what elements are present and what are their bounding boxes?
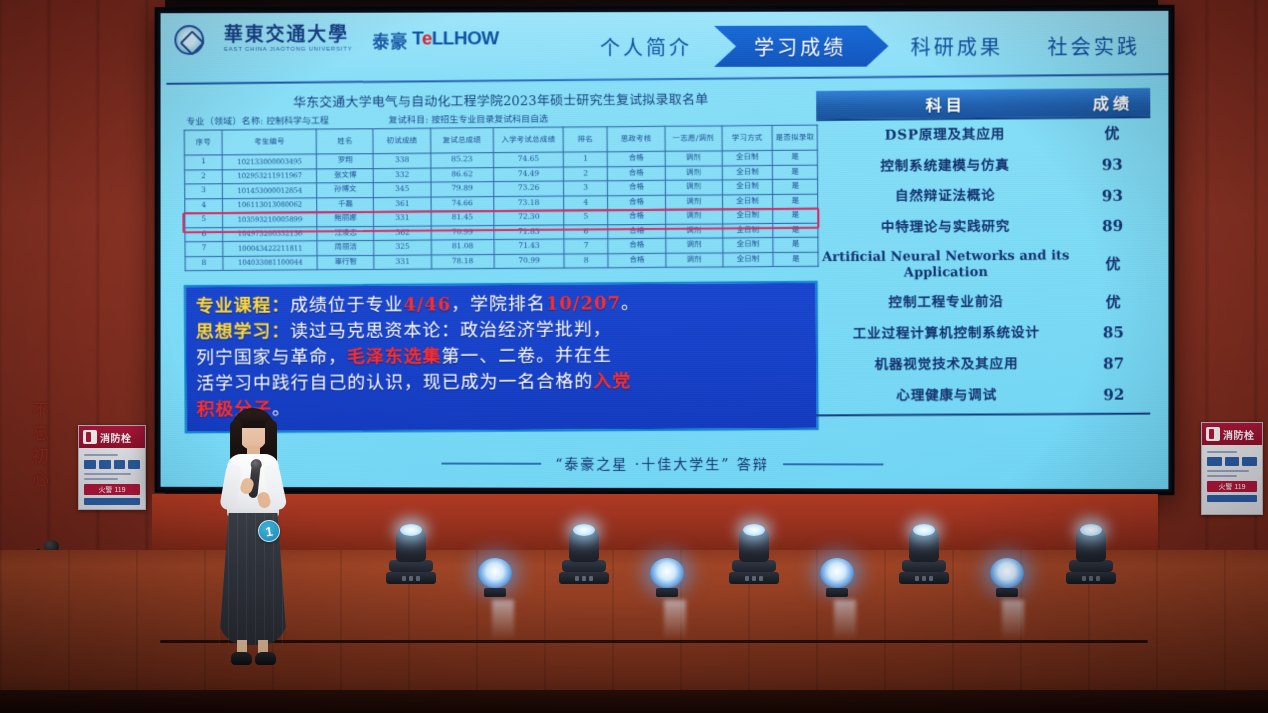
table-cell: 3 <box>185 184 223 199</box>
table-cell: 79.89 <box>431 182 494 197</box>
admission-list-section: 华东交通大学电气与自动化工程学院2023年硕士研究生复试拟录取名单 专业（领域）… <box>184 90 818 433</box>
grade-subject: 中特理论与实践研究 <box>816 211 1076 244</box>
table-cell: 调剂 <box>665 252 722 267</box>
auditorium-scene: 不忘初心 消防栓 火警 119 消防栓 <box>0 0 1268 713</box>
light-reflection <box>492 600 514 640</box>
table-cell: 3 <box>563 181 607 196</box>
table-cell: 调剂 <box>665 165 722 180</box>
grade-subject: 机器视觉技术及其应用 <box>817 349 1077 381</box>
sign-text-line <box>84 454 118 456</box>
statement-book-title: 毛泽东选集 <box>347 346 442 368</box>
caption-text: “泰豪之星 ·十佳大学生” 答辩 <box>555 454 769 474</box>
grade-subject: 工业过程计算机控制系统设计 <box>817 318 1077 350</box>
table-cell: 江凌志 <box>317 226 374 241</box>
sign-footer-bar <box>1207 495 1257 502</box>
lamp-base <box>899 572 949 584</box>
statement-text-4a: 活学习中践行自己的认识，现已成为一名合格的 <box>196 371 593 394</box>
par-light <box>650 558 684 597</box>
table-cell: 是 <box>773 165 818 180</box>
grades-bottom-rule <box>816 412 1150 416</box>
grade-subject: 自然辩证法概论 <box>816 181 1076 214</box>
table-cell: 345 <box>374 182 431 197</box>
statement-rank-major: 4/46 <box>403 294 451 315</box>
table-cell: 全日制 <box>723 252 774 267</box>
grade-subject: Artificial Neural Networks and its Appli… <box>816 242 1076 288</box>
nav-tab-research[interactable]: 科研成果 <box>888 25 1025 66</box>
hydrant-sign-header: 消防栓 <box>79 426 145 448</box>
lamp-base-detail <box>1089 576 1093 581</box>
statement-text-1b: ，学院排名 <box>451 294 546 316</box>
table-cell: 362 <box>374 226 431 241</box>
lamp-base-detail <box>402 576 406 581</box>
sign-step-chip <box>84 460 96 469</box>
hydrant-sign-title: 消防栓 <box>1223 427 1255 442</box>
table-cell: 5 <box>564 210 608 225</box>
admission-col-1: 考生编号 <box>222 129 317 155</box>
table-cell: 74.49 <box>494 167 564 182</box>
grade-subject: 控制系统建模与仿真 <box>815 150 1075 183</box>
sign-step-chip <box>128 460 140 469</box>
admission-subject-label: 复试科目: <box>388 116 428 126</box>
table-cell: 7 <box>185 241 223 256</box>
grade-row: 控制系统建模与仿真93 <box>815 149 1149 182</box>
sign-step-chip <box>1242 457 1257 466</box>
lamp-head <box>909 528 939 562</box>
table-cell: 是 <box>773 223 818 238</box>
table-cell: 合格 <box>608 253 665 268</box>
grade-subject: 心理健康与调试 <box>817 380 1077 412</box>
admission-col-2: 姓名 <box>317 129 374 154</box>
lamp-base <box>729 572 779 584</box>
lamp-base-detail <box>1082 576 1086 581</box>
table-cell: 78.18 <box>431 254 494 269</box>
par-light-base <box>826 588 848 597</box>
grade-score: 92 <box>1076 379 1151 410</box>
lamp-beam <box>1080 524 1102 536</box>
par-light-face <box>650 558 684 588</box>
sponsor-name-cn: 泰豪 <box>372 27 408 52</box>
sign-text-line <box>1207 451 1237 453</box>
table-cell: 104973200332136 <box>223 226 318 241</box>
table-cell: 全日制 <box>722 165 773 180</box>
table-cell: 调剂 <box>665 194 722 209</box>
university-logo-icon <box>174 25 204 55</box>
lamp-base <box>1066 572 1116 584</box>
lamp-base-detail <box>915 576 919 581</box>
slide-body: 华东交通大学电气与自动化工程学院2023年硕士研究生复试拟录取名单 专业（领域）… <box>161 83 1169 489</box>
par-light-face <box>990 558 1024 588</box>
admission-major-value: 控制科学与工程 <box>266 116 329 126</box>
nav-tab-profile[interactable]: 个人简介 <box>578 26 714 67</box>
table-cell: 合格 <box>608 166 665 181</box>
table-cell: 100043422211811 <box>223 241 318 256</box>
table-cell: 86.62 <box>430 167 493 182</box>
table-cell: 106113013080062 <box>223 197 318 212</box>
wall-calligraphy: 不忘初心 <box>26 400 56 492</box>
table-cell: 是 <box>773 150 818 165</box>
table-cell: 是 <box>773 179 818 194</box>
sign-step-chip <box>1207 457 1222 466</box>
presenter-shoe-left <box>231 652 252 665</box>
statement-line-3: 列宁国家与革命，毛泽东选集第一、二卷。并在生 <box>196 342 806 372</box>
sign-step-chips <box>84 460 140 469</box>
grades-header-subject-cell: 科目 <box>816 91 1076 117</box>
caption-rule-right <box>783 463 883 465</box>
sign-step-chip <box>99 460 111 469</box>
table-cell: 全日制 <box>722 223 773 238</box>
table-cell: 调剂 <box>665 223 722 238</box>
grade-score: 93 <box>1075 149 1150 180</box>
lamp-head <box>739 528 769 562</box>
sign-step-chip <box>1225 457 1240 466</box>
admission-table-wrapper: 序号考生编号姓名初试成绩复试总成绩入学考试总成绩排名思政考核一志愿/调剂学习方式… <box>184 125 819 272</box>
table-cell: 调剂 <box>665 238 722 253</box>
par-light-base <box>656 588 678 597</box>
table-cell: 103593210005899 <box>223 212 318 227</box>
hydrant-hotline: 火警 119 <box>1207 481 1257 492</box>
nav-tab-practice[interactable]: 社会实践 <box>1025 25 1162 66</box>
admission-col-8: 一志愿/调剂 <box>665 126 722 151</box>
grades-section: 科目 成绩 DSP原理及其应用优控制系统建模与仿真93自然辩证法概论93中特理论… <box>816 89 1150 415</box>
lamp-base-detail <box>929 576 933 581</box>
table-cell: 全日制 <box>722 180 773 195</box>
par-light <box>990 558 1024 597</box>
grades-header-subject: 科目 <box>926 96 966 115</box>
slide-header: 華東交通大學 EAST CHINA JIAOTONG UNIVERSITY 泰豪… <box>161 11 1169 85</box>
lamp-base-detail <box>582 576 586 581</box>
table-cell: 是 <box>773 237 818 252</box>
stage-front-edge <box>0 690 1268 713</box>
table-cell: 70.99 <box>431 225 494 240</box>
table-cell: 2 <box>185 169 223 184</box>
moving-head-light <box>898 528 950 584</box>
admission-table: 序号考生编号姓名初试成绩复试总成绩入学考试总成绩排名思政考核一志愿/调剂学习方式… <box>184 125 819 272</box>
table-cell: 332 <box>374 168 431 183</box>
statement-text-2a: 读过马克思资本论：政治经济学批判， <box>290 319 612 342</box>
stage-cable <box>160 640 1148 643</box>
table-cell: 调剂 <box>665 151 722 166</box>
hydrant-icon <box>83 430 97 444</box>
admission-subject: 复试科目: 按招生专业目录复试科目自选 <box>388 112 548 126</box>
table-cell: 周丽洁 <box>317 240 374 255</box>
par-light <box>820 558 854 597</box>
table-cell: 331 <box>374 211 431 226</box>
table-cell: 81.45 <box>431 211 494 226</box>
table-cell: 7 <box>564 239 608 254</box>
table-cell: 73.18 <box>494 196 564 211</box>
sponsor-letter-t: T <box>412 29 422 50</box>
lamp-base-detail <box>575 576 579 581</box>
par-light <box>478 558 512 597</box>
table-cell: 70.99 <box>494 254 564 269</box>
fire-hydrant-sign-right: 消防栓 火警 119 <box>1201 422 1263 515</box>
sign-text-line <box>1207 475 1237 477</box>
moving-head-light <box>728 528 780 584</box>
lamp-head <box>569 528 599 562</box>
table-cell: 8 <box>185 256 223 271</box>
grades-header-score: 成绩 <box>1093 94 1133 113</box>
table-cell: 合格 <box>608 209 665 224</box>
lamp-base-detail <box>922 576 926 581</box>
table-cell: 合格 <box>608 238 665 253</box>
statement-rank-college: 10/207 <box>546 293 621 314</box>
table-cell: 调剂 <box>665 180 722 195</box>
table-cell: 全日制 <box>722 194 773 209</box>
grade-row: 机器视觉技术及其应用87 <box>817 348 1151 381</box>
table-cell: 全日制 <box>722 209 773 224</box>
sign-text-line <box>1207 470 1249 472</box>
fire-hydrant-sign-left: 消防栓 火警 119 <box>78 425 146 510</box>
table-cell: 338 <box>374 153 431 168</box>
sponsor-letters-rest: LLHOW <box>432 28 499 49</box>
statement-text-3b: 第一、二卷。并在生 <box>441 345 612 367</box>
led-screen: 華東交通大學 EAST CHINA JIAOTONG UNIVERSITY 泰豪… <box>155 5 1175 495</box>
table-cell: 72.30 <box>494 210 564 225</box>
table-cell: 73.26 <box>494 181 564 196</box>
university-name-cn: 華東交通大學 <box>224 26 353 46</box>
lamp-base-detail <box>745 576 749 581</box>
presenter: 1 <box>210 408 296 670</box>
table-cell: 101453000012854 <box>222 183 317 198</box>
lamp-beam <box>400 524 422 536</box>
statement-text-1a: 成绩位于专业 <box>290 295 403 317</box>
hydrant-sign-body: 火警 119 <box>1202 445 1262 505</box>
sign-step-chip <box>114 460 126 469</box>
admission-major: 专业（领域）名称: 控制科学与工程 <box>186 114 329 128</box>
admission-major-label: 专业（领域）名称: <box>186 117 263 128</box>
university-name-block: 華東交通大學 EAST CHINA JIAOTONG UNIVERSITY <box>224 26 353 53</box>
statement-text-3a: 列宁国家与革命， <box>196 347 347 369</box>
admission-col-10: 是否拟录取 <box>773 125 818 150</box>
presenter-shoe-right <box>255 652 276 665</box>
table-cell: 合格 <box>608 151 665 166</box>
light-reflection <box>834 600 856 640</box>
table-cell: 张文博 <box>317 168 374 183</box>
table-cell: 孙博文 <box>317 183 374 198</box>
table-cell: 71.43 <box>494 239 564 254</box>
table-cell: 74.66 <box>431 196 494 211</box>
statement-text-1c: 。 <box>621 293 640 314</box>
table-cell: 1 <box>184 155 222 170</box>
grade-row: DSP原理及其应用优 <box>815 118 1149 152</box>
table-cell: 1 <box>563 152 607 167</box>
university-name-en: EAST CHINA JIAOTONG UNIVERSITY <box>224 47 353 54</box>
lamp-base-detail <box>1096 576 1100 581</box>
par-light-face <box>820 558 854 588</box>
moving-head-light <box>385 528 437 584</box>
lamp-head <box>1076 528 1106 562</box>
stage-back-wall <box>152 494 1158 550</box>
logo-group: 華東交通大學 EAST CHINA JIAOTONG UNIVERSITY 泰豪… <box>174 24 498 55</box>
table-cell: 6 <box>564 224 608 239</box>
admission-title: 华东交通大学电气与自动化工程学院2023年硕士研究生复试拟录取名单 <box>184 88 818 112</box>
moving-head-light <box>558 528 610 584</box>
hydrant-hotline: 火警 119 <box>84 484 140 495</box>
table-cell: 2 <box>563 166 607 181</box>
statement-line-2: 思想学习：读过马克思资本论：政治经济学批判， <box>196 316 806 346</box>
table-cell: 81.08 <box>431 240 494 255</box>
sponsor-logo: 泰豪 TeLLHOW <box>372 27 498 52</box>
grade-row: 自然辩证法概论93 <box>816 180 1150 213</box>
grade-row: 中特理论与实践研究89 <box>816 211 1150 244</box>
hydrant-sign-body: 火警 119 <box>79 448 145 508</box>
hydrant-sign-header: 消防栓 <box>1202 423 1262 445</box>
grade-row: 心理健康与调试92 <box>817 379 1151 412</box>
table-cell: 全日制 <box>723 238 774 253</box>
sign-text-line <box>84 478 118 480</box>
table-cell: 74.65 <box>494 152 564 167</box>
table-cell: 是 <box>773 252 818 267</box>
admission-col-6: 排名 <box>563 127 608 152</box>
grade-subject: DSP原理及其应用 <box>815 119 1075 152</box>
grade-score: 优 <box>1075 118 1150 149</box>
grade-score: 优 <box>1076 287 1151 318</box>
table-cell: 罗翔 <box>317 154 374 169</box>
grade-score: 87 <box>1076 348 1151 379</box>
table-cell: 合格 <box>608 180 665 195</box>
admission-col-7: 思政考核 <box>607 126 664 151</box>
slide-nav: 个人简介 学习成绩 科研成果 社会实践 <box>578 25 1162 67</box>
table-cell: 合格 <box>608 195 665 210</box>
lamp-base-detail <box>759 576 763 581</box>
admission-table-body: 1102133000003495罗翔33885.2374.651合格调剂全日制是… <box>184 150 818 270</box>
table-cell: 是 <box>773 194 818 209</box>
grade-row: 工业过程计算机控制系统设计85 <box>817 317 1151 350</box>
caption-rule-left <box>442 463 542 465</box>
sponsor-name-en: TeLLHOW <box>412 28 499 50</box>
admission-subject-value: 按招生专业目录复试科目自选 <box>432 115 549 126</box>
lamp-base <box>386 572 436 584</box>
presentation-slide: 華東交通大學 EAST CHINA JIAOTONG UNIVERSITY 泰豪… <box>161 11 1169 489</box>
grade-score: 93 <box>1075 180 1150 211</box>
light-reflection <box>664 600 686 640</box>
sponsor-letter-e: e <box>422 29 432 50</box>
sign-footer-bar <box>84 498 140 505</box>
table-cell: 全日制 <box>722 150 773 165</box>
statement-line-4: 活学习中践行自己的认识，现已成为一名合格的入党 <box>196 368 806 397</box>
admission-col-9: 学习方式 <box>722 125 773 150</box>
table-row: 8104033081100044辜行智33178.1870.998合格调剂全日制… <box>185 252 818 271</box>
lamp-base-detail <box>752 576 756 581</box>
par-light-base <box>484 588 506 597</box>
lamp-base-detail <box>416 576 420 581</box>
table-cell: 102133000003495 <box>222 154 317 169</box>
table-cell: 361 <box>374 197 431 212</box>
lamp-base <box>559 572 609 584</box>
grades-header-score-cell: 成绩 <box>1076 90 1151 115</box>
admission-col-3: 初试成绩 <box>373 128 430 153</box>
table-cell: 4 <box>185 198 223 213</box>
lamp-beam <box>913 524 935 536</box>
grade-score: 89 <box>1075 211 1150 242</box>
table-cell: 辜行智 <box>317 255 374 270</box>
sign-step-chips <box>1207 457 1257 466</box>
light-reflection <box>1002 600 1024 640</box>
table-cell: 8 <box>564 253 608 268</box>
par-light-base <box>996 588 1018 597</box>
table-cell: 102953211911967 <box>222 169 317 184</box>
hydrant-sign-title: 消防栓 <box>100 430 132 445</box>
grades-header-row: 科目 成绩 <box>816 88 1150 121</box>
par-light-face <box>478 558 512 588</box>
sign-text-line <box>84 473 131 475</box>
admission-col-5: 入学考试总成绩 <box>493 127 563 153</box>
lamp-beam <box>573 524 595 536</box>
grade-score: 85 <box>1076 317 1151 348</box>
grades-table-body: DSP原理及其应用优控制系统建模与仿真93自然辩证法概论93中特理论与实践研究8… <box>815 118 1151 412</box>
admission-col-4: 复试总成绩 <box>430 128 493 153</box>
lamp-base-detail <box>409 576 413 581</box>
table-cell: 331 <box>374 254 431 269</box>
lamp-base-detail <box>589 576 593 581</box>
table-cell: 325 <box>374 240 431 255</box>
table-cell: 104033081100044 <box>223 255 318 270</box>
hydrant-icon <box>1206 427 1220 441</box>
table-cell: 85.23 <box>430 153 493 168</box>
table-cell: 鲍丽娜 <box>317 211 374 226</box>
statement-label-courses: 专业课程： <box>196 295 290 317</box>
slide-caption: “泰豪之星 ·十佳大学生” 答辩 <box>161 453 1169 475</box>
grade-row: Artificial Neural Networks and its Appli… <box>816 242 1150 289</box>
nav-tab-grades[interactable]: 学习成绩 <box>714 26 888 67</box>
table-cell: 千磊 <box>317 197 374 212</box>
grade-subject: 控制工程专业前沿 <box>816 287 1076 320</box>
grades-table: DSP原理及其应用优控制系统建模与仿真93自然辩证法概论93中特理论与实践研究8… <box>815 118 1151 412</box>
table-cell: 调剂 <box>665 209 722 224</box>
lamp-head <box>396 528 426 562</box>
lamp-beam <box>743 524 765 536</box>
table-cell: 5 <box>185 213 223 228</box>
statement-label-ideology: 思想学习： <box>196 321 290 342</box>
table-cell: 6 <box>185 227 223 242</box>
statement-line-1: 专业课程：成绩位于专业4/46，学院排名10/207。 <box>196 290 806 320</box>
statement-party-1: 入党 <box>593 371 631 392</box>
table-cell: 71.83 <box>494 225 564 240</box>
table-cell: 4 <box>564 195 608 210</box>
moving-head-light <box>1065 528 1117 584</box>
grade-row: 控制工程专业前沿优 <box>816 287 1150 320</box>
table-cell: 是 <box>773 208 818 223</box>
grade-score: 优 <box>1075 242 1150 287</box>
admission-col-0: 序号 <box>184 130 222 155</box>
table-cell: 合格 <box>608 224 665 239</box>
